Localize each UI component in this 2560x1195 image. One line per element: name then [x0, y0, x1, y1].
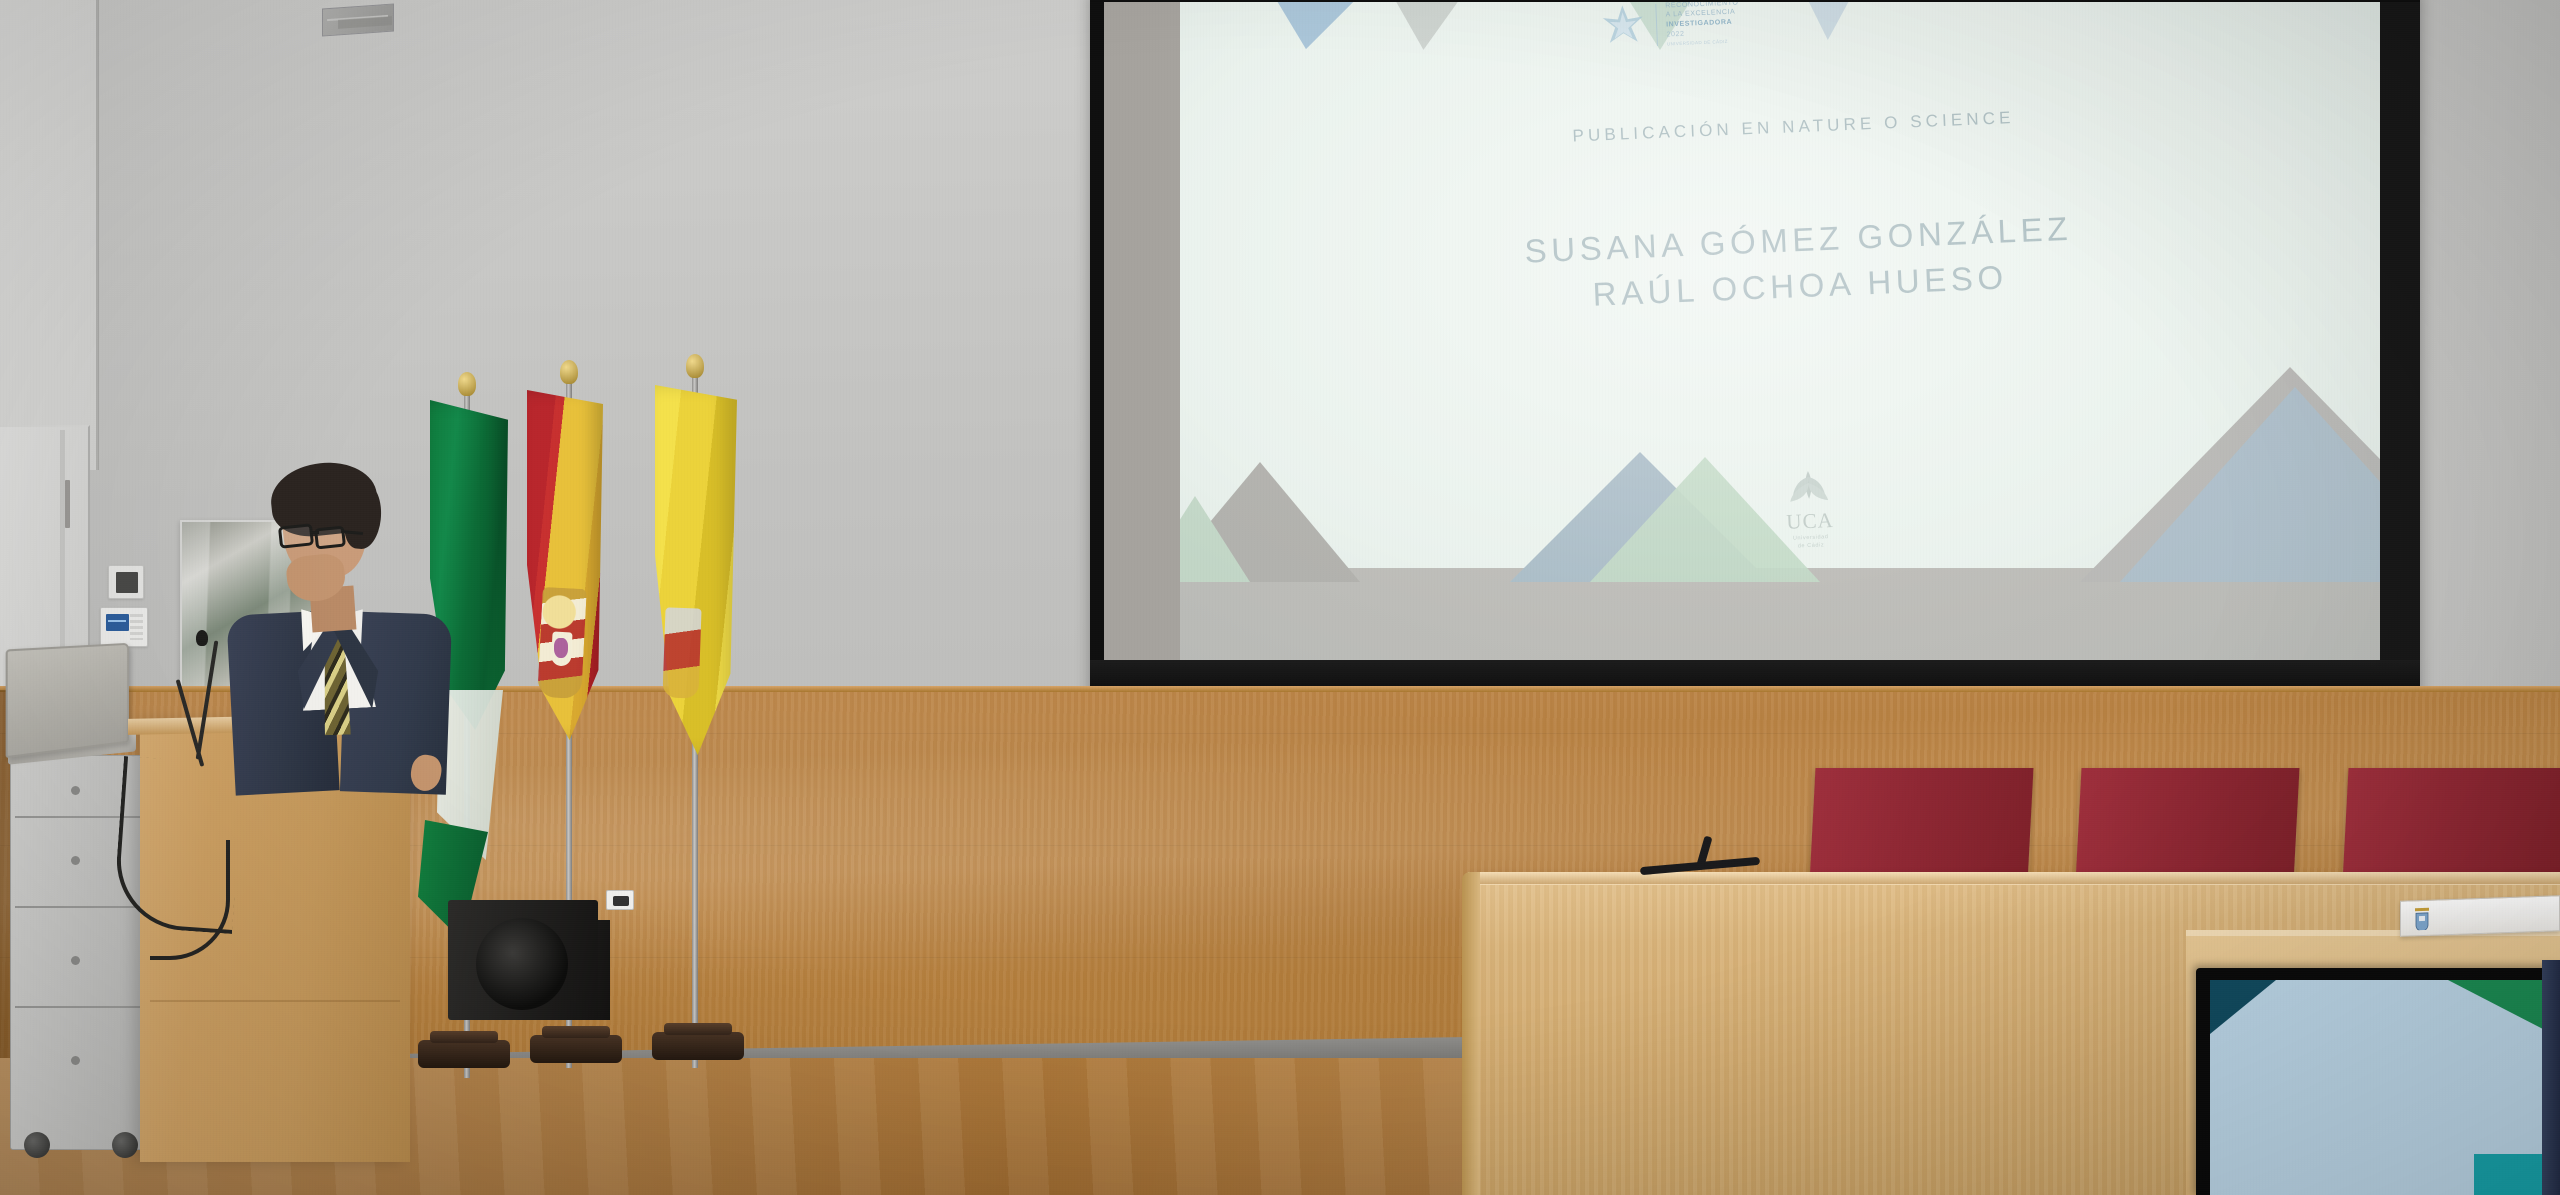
wall-corner-seam: [96, 0, 99, 470]
control-panel-buttons[interactable]: [130, 614, 143, 640]
uca-crest-icon: [2413, 906, 2431, 931]
power-outlet[interactable]: [606, 890, 634, 910]
monitor-teal-block: [2474, 1154, 2546, 1195]
uca-wordmark: UCA: [1764, 507, 1857, 536]
slide-eyebrow: PUBLICACIÓN EN NATURE O SCIENCE: [1473, 104, 2113, 151]
av-control-panel[interactable]: [100, 607, 148, 647]
door-hinge: [65, 480, 70, 528]
uca-logo: UCA Universidad de Cádiz: [1762, 467, 1857, 552]
presenter-person: [225, 455, 475, 785]
cart-wheel-right: [112, 1132, 138, 1158]
eyeglasses-left-lens: [278, 523, 314, 548]
star-icon: [1598, 1, 1648, 51]
screen-left-margin: [1090, 0, 1180, 672]
bench-top-lip: [1468, 872, 2560, 884]
flag-spain-lion-quarter: [554, 638, 568, 658]
floor-loudspeaker: [448, 900, 598, 1020]
flagpole-finial-spain: [560, 360, 578, 384]
flag-stand-spain: [530, 1035, 622, 1063]
monitor-right-bezel: [2542, 960, 2560, 1195]
laptop-screen[interactable]: [6, 643, 129, 758]
right-wall: [2400, 0, 2560, 690]
uca-nameplate: [2400, 895, 2560, 937]
projection-screen-roller: [1090, 0, 2420, 2]
projected-slide: RECONOCIMIENTO A LA EXCELENCIA INVESTIGA…: [1180, 0, 2380, 660]
monitor-screen: [2210, 980, 2560, 1195]
cart-wheel-left: [24, 1132, 50, 1158]
conference-hall-photo: RECONOCIMIENTO A LA EXCELENCIA INVESTIGA…: [0, 0, 2560, 1195]
award-badge: RECONOCIMIENTO A LA EXCELENCIA INVESTIGA…: [1598, 0, 1740, 51]
monitor-triangle-left: [2210, 980, 2276, 1034]
microphone-head[interactable]: [196, 630, 208, 646]
award-text-block: RECONOCIMIENTO A LA EXCELENCIA INVESTIGA…: [1665, 0, 1740, 47]
flag-stand-cadiz: [652, 1032, 744, 1060]
flagpole-finial-andalusia: [458, 372, 476, 396]
control-panel-lcd: [106, 614, 129, 631]
lectern-panel-line: [150, 1000, 400, 1002]
flagpole-finial-cadiz: [686, 354, 704, 378]
uca-leaf-icon: [1782, 468, 1835, 504]
award-divider: [1655, 4, 1658, 46]
slide-content: RECONOCIMIENTO A LA EXCELENCIA INVESTIGA…: [1180, 0, 2380, 660]
left-wall-face: [0, 0, 98, 470]
presentation-monitor[interactable]: [2196, 968, 2560, 1195]
bench-left-edge: [1462, 872, 1480, 1195]
flag-cadiz-crest: [662, 607, 701, 698]
flag-stand-andalusia: [418, 1040, 510, 1068]
thermostat-panel[interactable]: [108, 565, 144, 599]
eyeglasses-bridge: [311, 531, 319, 534]
